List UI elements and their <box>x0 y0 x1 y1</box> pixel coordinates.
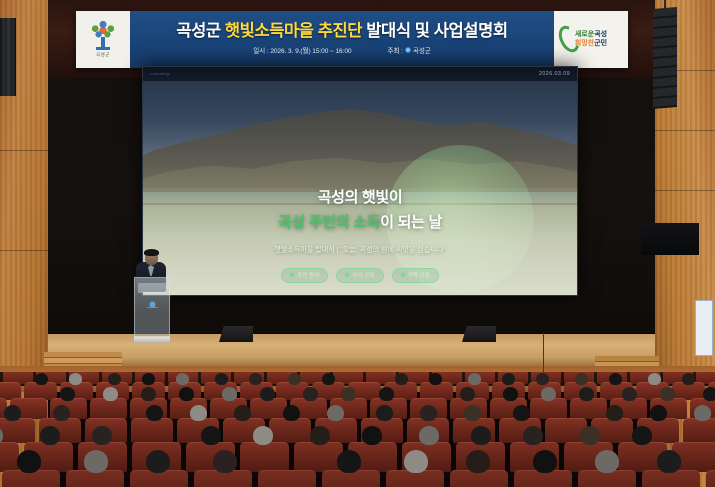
audience-member <box>108 373 121 385</box>
slide-pill-1-label: 주민 참여 <box>297 271 319 279</box>
audience-member <box>650 405 667 421</box>
audience-member <box>4 405 21 421</box>
audience-member <box>213 450 237 473</box>
host-mark-icon <box>405 47 411 53</box>
audience-member <box>503 387 518 401</box>
audience-member <box>513 405 530 421</box>
event-banner: 곡성군 곡성군 햇빛소득마을 추진단 발대식 및 사업설명회 일시 : 2026… <box>76 11 628 68</box>
county-slogan: 새로운곡성 희망찬군민 <box>554 11 628 68</box>
slide-pill-2-label: 이익 공유 <box>352 271 374 279</box>
audience-member <box>595 450 619 473</box>
audience-member <box>420 405 437 421</box>
slide-pill-group: 주민 참여 이익 공유 지역 상생 <box>281 268 438 283</box>
audience-member <box>222 387 237 401</box>
podium-base <box>134 337 170 343</box>
audience-member <box>466 450 490 473</box>
banner-host-name: 곡성군 <box>413 45 431 55</box>
audience-member <box>215 373 228 385</box>
audience-member <box>579 387 594 401</box>
audience-member <box>464 405 481 421</box>
banner-main: 곡성군 햇빛소득마을 추진단 발대식 및 사업설명회 일시 : 2026. 3.… <box>130 11 554 68</box>
audience-seat <box>240 442 289 472</box>
audience-member <box>632 426 652 445</box>
floor-monitor-left-icon <box>219 326 253 342</box>
audience-member <box>201 426 221 445</box>
right-hanging-line-array-icon <box>653 7 677 109</box>
slide-headline-2-green: 곡성 주민의 소득 <box>278 214 380 231</box>
audience-member <box>460 387 475 401</box>
audience-seat <box>131 418 173 443</box>
banner-host: 주최 : 곡성군 <box>387 45 430 55</box>
audience-member <box>310 426 330 445</box>
audience-member <box>146 450 170 473</box>
audience-member <box>523 426 543 445</box>
slide-pill-3-label: 지역 상생 <box>408 271 430 279</box>
banner-host-label: 주최 : <box>387 45 402 55</box>
audience-member <box>694 405 711 421</box>
audience-member <box>176 373 189 385</box>
left-wall-speaker-icon <box>0 18 16 96</box>
banner-title: 곡성군 햇빛소득마을 추진단 발대식 및 사업설명회 <box>176 23 507 40</box>
audience-seat <box>258 470 316 487</box>
audience-member <box>376 405 393 421</box>
audience-member <box>322 373 335 385</box>
audience-member <box>362 426 382 445</box>
audience-member <box>682 373 695 385</box>
audience-member <box>575 373 588 385</box>
slogan-line-1-a: 새로운 <box>575 31 594 38</box>
audience-member <box>283 405 300 421</box>
audience-member <box>395 373 408 385</box>
county-logo: 곡성군 <box>76 11 130 68</box>
audience-member <box>419 426 439 445</box>
tree-emblem-icon <box>88 21 118 51</box>
slogan-line-1: 새로운곡성 <box>575 31 607 39</box>
audience-seat <box>90 398 127 419</box>
audience-seat <box>683 418 715 443</box>
audience-member <box>142 373 155 385</box>
banner-title-part-3: 발대식 및 사업설명회 <box>362 22 508 40</box>
audience-member <box>327 405 344 421</box>
slide-watermark: rootenergy <box>150 72 170 76</box>
audience-seat <box>570 398 607 419</box>
audience-member <box>35 373 48 385</box>
audience-member <box>468 373 481 385</box>
banner-title-part-2: 햇빛소득마을 추진단 <box>225 22 362 40</box>
home-dot-icon <box>401 273 405 277</box>
auditorium-scene: 곡성군 곡성군 햇빛소득마을 추진단 발대식 및 사업설명회 일시 : 2026… <box>0 0 715 487</box>
county-logo-caption: 곡성군 <box>96 52 110 58</box>
presenter-hair <box>144 249 159 256</box>
audience-member <box>648 373 661 385</box>
banner-title-part-1: 곡성군 <box>176 22 225 40</box>
slide-headline-1: 곡성의 햇빛이 <box>318 186 403 207</box>
wall-sign <box>695 300 713 356</box>
audience-member <box>103 387 118 401</box>
audience-member <box>609 373 622 385</box>
audience-member <box>337 450 361 473</box>
audience-member <box>536 373 549 385</box>
audience-member <box>303 387 318 401</box>
slide-headline-2: 곡성 주민의 소득이 되는 날 <box>278 211 442 232</box>
audience-member <box>660 387 675 401</box>
slide-date-stamp: 2026.03.09 <box>539 71 570 77</box>
audience-member <box>17 450 41 473</box>
audience-member <box>703 387 715 401</box>
audience-member <box>606 405 623 421</box>
audience-member <box>404 450 428 473</box>
audience-member <box>234 405 251 421</box>
audience-seat <box>269 418 311 443</box>
audience-seat <box>0 442 19 472</box>
slogan-arc-icon <box>555 22 583 55</box>
share-dot-icon <box>345 273 349 277</box>
slide-topbar: rootenergy 2026.03.09 <box>143 67 577 81</box>
audience-member <box>622 387 637 401</box>
presentation-slide: rootenergy 2026.03.09 곡성의 햇빛이 곡성 주민의 소득이… <box>143 67 577 295</box>
banner-subline: 일시 : 2026. 3. 9.(월) 15:00 ~ 16:00 주최 : 곡… <box>253 45 431 55</box>
audience-member <box>471 426 491 445</box>
audience-member <box>429 373 442 385</box>
audience-seat <box>0 418 35 443</box>
audience-seat <box>706 470 715 487</box>
audience-member <box>69 373 82 385</box>
audience-seat <box>250 398 287 419</box>
floor-monitor-right-icon <box>462 326 496 342</box>
audience-member <box>141 387 156 401</box>
audience-member <box>179 387 194 401</box>
audience-member <box>60 387 75 401</box>
slogan-line-2-b: 군민 <box>594 40 607 47</box>
slogan-line-1-b: 곡성 <box>594 31 607 38</box>
audience-member <box>92 426 112 445</box>
audience-area <box>0 372 715 487</box>
projection-screen: rootenergy 2026.03.09 곡성의 햇빛이 곡성 주민의 소득이… <box>142 66 578 296</box>
people-dot-icon <box>290 273 294 277</box>
audience-member <box>253 426 273 445</box>
slide-headline-2-white: 이 되는 날 <box>380 214 442 231</box>
audience-member <box>260 387 275 401</box>
right-wall-speaker-icon <box>641 223 699 255</box>
audience-member <box>288 373 301 385</box>
audience-member <box>533 450 557 473</box>
audience-member <box>657 450 681 473</box>
slogan-line-2: 희망찬군민 <box>575 40 607 48</box>
slide-pill-2: 이익 공유 <box>336 268 383 283</box>
audience-member <box>379 387 394 401</box>
audience-seat <box>294 442 343 472</box>
audience-member <box>341 387 356 401</box>
audience-member <box>502 373 515 385</box>
slide-text-block: 곡성의 햇빛이 곡성 주민의 소득이 되는 날 햇빛소득마을 발대식 | "오늘… <box>143 186 577 296</box>
audience-member <box>249 373 262 385</box>
podium-emblem-icon <box>147 300 158 313</box>
slide-pill-3: 지역 상생 <box>392 268 439 283</box>
slide-subtitle: 햇빛소득마을 발대식 | "오늘, 곡성의 땅에 씨앗을 심습니다" <box>274 245 446 255</box>
banner-datetime: 일시 : 2026. 3. 9.(월) 15:00 ~ 16:00 <box>253 45 351 55</box>
slogan-line-2-a: 희망찬 <box>575 40 594 47</box>
audience-seat <box>530 398 567 419</box>
audience-member <box>40 426 60 445</box>
audience-member <box>541 387 556 401</box>
audience-member <box>84 450 108 473</box>
audience-member <box>146 405 163 421</box>
audience-member <box>580 426 600 445</box>
podium-plate <box>138 283 166 293</box>
audience-member <box>53 405 70 421</box>
acrylic-podium <box>134 277 170 337</box>
audience-member <box>190 405 207 421</box>
slide-pill-1: 주민 참여 <box>281 268 328 283</box>
